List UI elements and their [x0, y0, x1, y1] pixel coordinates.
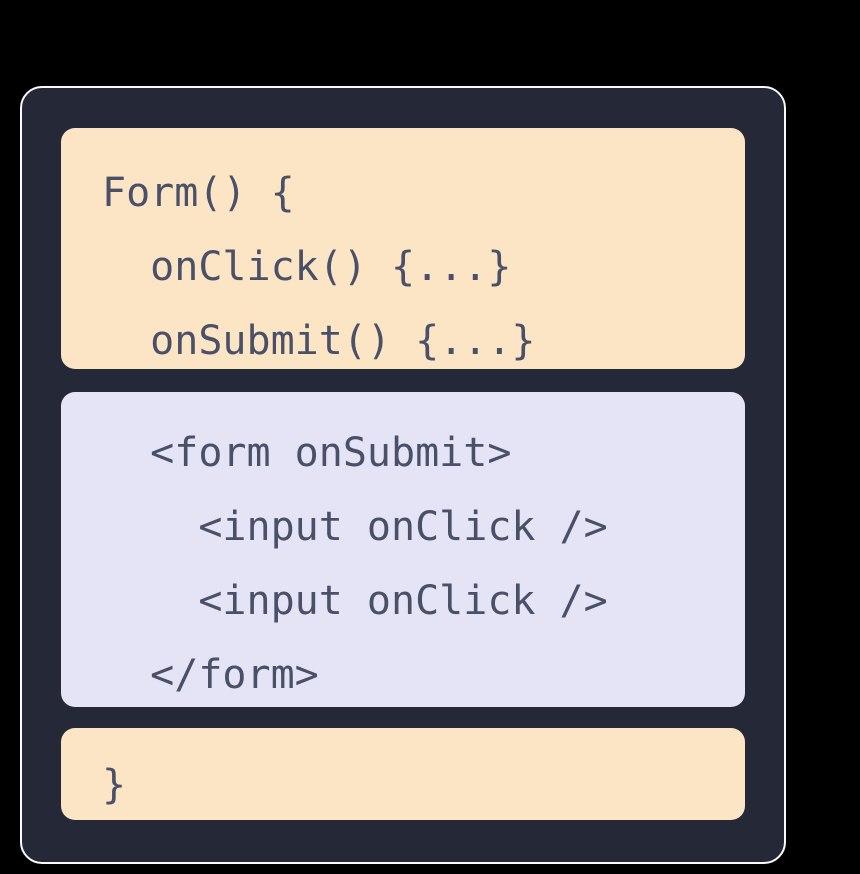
code-panel-component-footer: } — [61, 728, 745, 820]
code-line: onSubmit() {...} — [61, 304, 745, 369]
code-line: </form> — [61, 638, 745, 707]
code-line: <form onSubmit> — [61, 416, 745, 490]
code-panel-jsx-markup: <form onSubmit> <input onClick /> <input… — [61, 392, 745, 707]
code-line: } — [61, 748, 745, 820]
code-line: <input onClick /> — [61, 564, 745, 638]
code-line: Form() { — [61, 156, 745, 230]
code-line: onClick() {...} — [61, 230, 745, 304]
code-line: <input onClick /> — [61, 490, 745, 564]
code-panel-component-header: Form() { onClick() {...} onSubmit() {...… — [61, 128, 745, 369]
code-card: Form() { onClick() {...} onSubmit() {...… — [20, 86, 786, 864]
diagram-canvas: Form() { onClick() {...} onSubmit() {...… — [0, 0, 860, 874]
